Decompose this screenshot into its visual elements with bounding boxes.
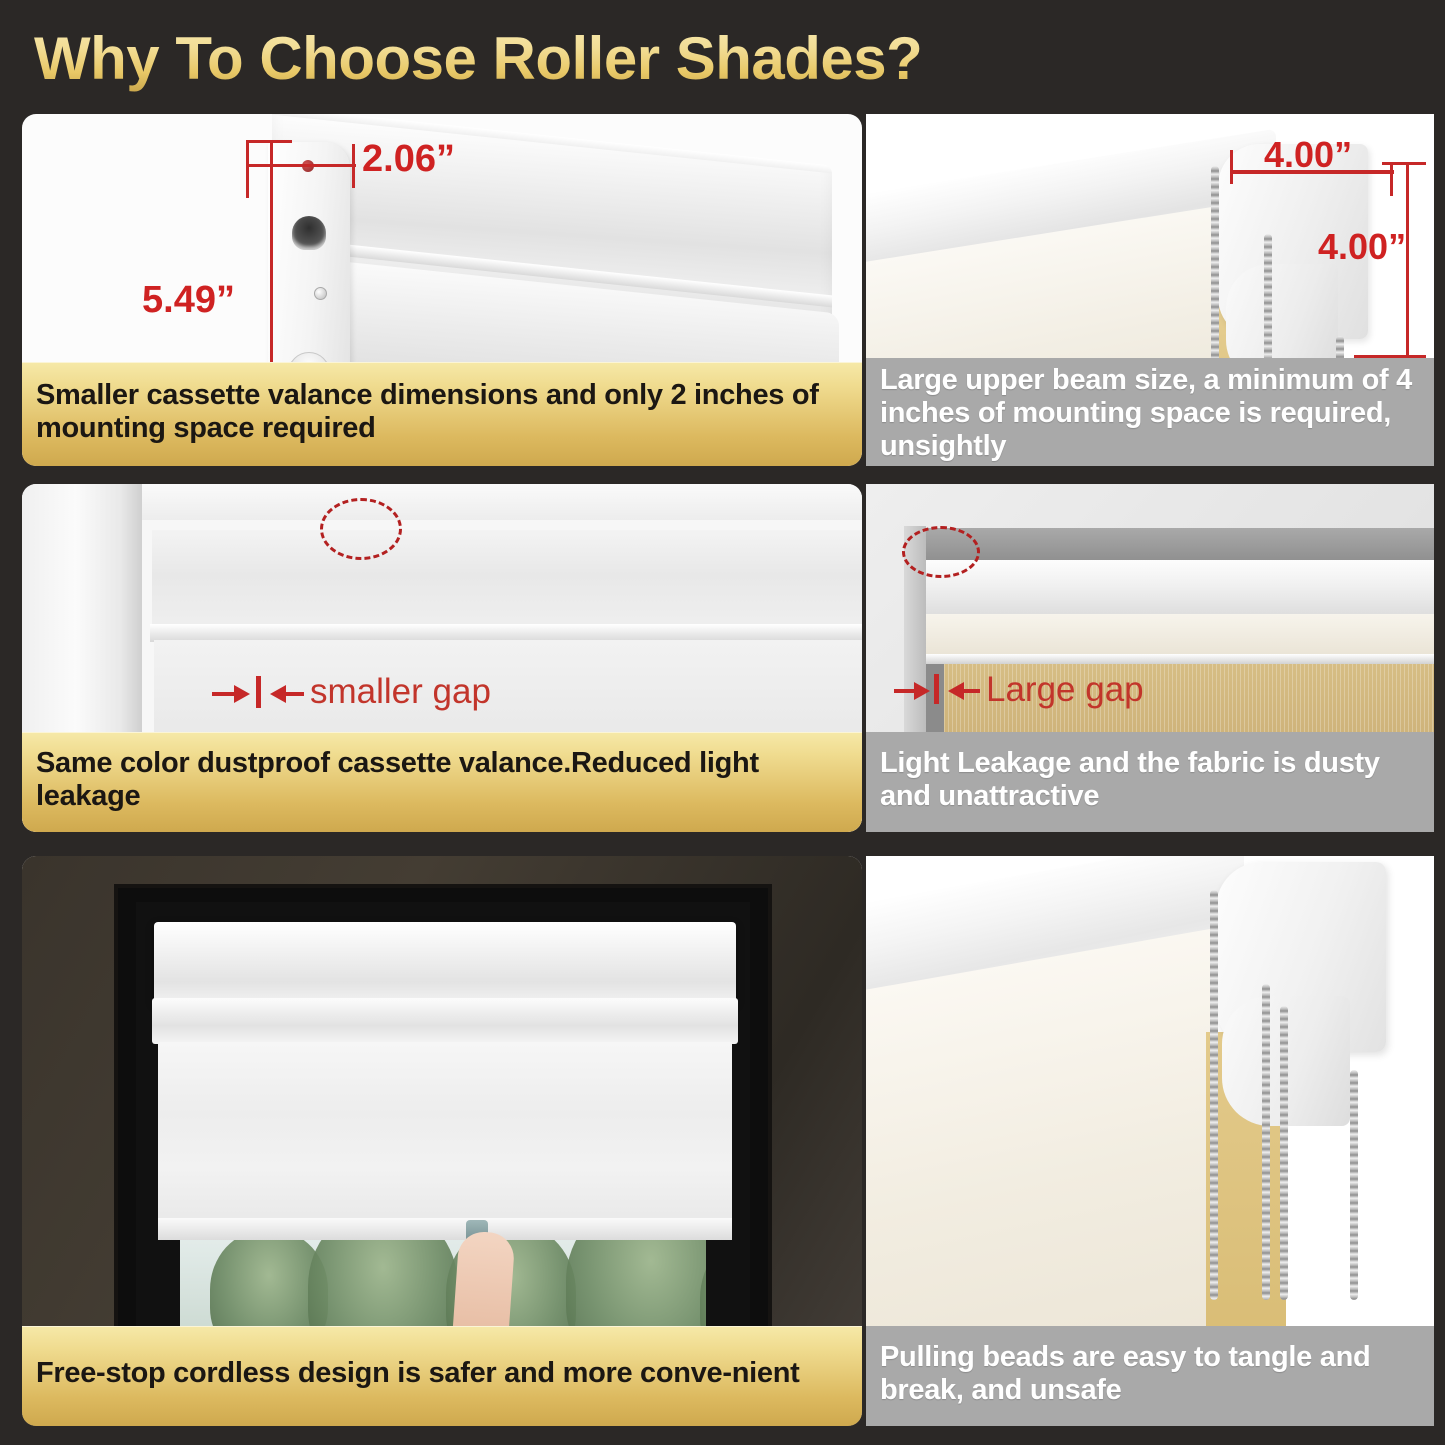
bracket-slot bbox=[292, 216, 326, 250]
gap-marker-bar bbox=[934, 674, 939, 704]
dim-ext-left-206 bbox=[246, 140, 249, 198]
dim-ext-right-400h bbox=[1390, 164, 1393, 196]
panel-bottom-right-caption: Pulling beads are easy to tangle and bre… bbox=[866, 1326, 1434, 1426]
panel-bottom-right: Pulling beads are easy to tangle and bre… bbox=[866, 856, 1434, 1426]
highlight-ellipse-icon bbox=[320, 498, 402, 560]
dimension-label-width-206: 2.06” bbox=[362, 138, 455, 181]
dimension-label-width-400: 4.00” bbox=[1264, 134, 1352, 176]
gap-arrow-stem-left bbox=[894, 689, 916, 693]
gap-arrow-right-icon bbox=[914, 682, 930, 700]
dim-tick-top-549 bbox=[248, 140, 292, 143]
comparison-grid: 2.06” 5.49” Smaller cassette valance dim… bbox=[0, 0, 1445, 1445]
cordless-shade-bottom-rail bbox=[158, 1218, 732, 1240]
pull-bead-chain-3 bbox=[1280, 1006, 1288, 1300]
gap-arrow-stem-left bbox=[212, 692, 236, 696]
panel-bottom-left-caption: Free-stop cordless design is safer and m… bbox=[22, 1326, 862, 1426]
cordless-shade-valance bbox=[154, 922, 736, 1002]
dim-line-400v bbox=[1406, 162, 1409, 358]
gap-arrow-left-icon bbox=[948, 682, 964, 700]
dim-line-206 bbox=[246, 164, 356, 167]
pull-bead-chain-4 bbox=[1350, 1070, 1358, 1300]
window-head-trim bbox=[112, 484, 862, 520]
dim-tick-top-400v bbox=[1382, 162, 1426, 165]
gap-arrow-stem-right bbox=[286, 692, 304, 696]
panel-top-left: 2.06” 5.49” Smaller cassette valance dim… bbox=[22, 114, 862, 466]
dimension-label-height-549: 5.49” bbox=[142, 279, 235, 322]
gap-callout-smaller: smaller gap bbox=[310, 672, 491, 712]
bracket-screw bbox=[314, 287, 327, 300]
dim-ext-left-400h bbox=[1230, 150, 1233, 184]
gap-callout-large: Large gap bbox=[986, 670, 1144, 710]
panel-mid-left: smaller gap Same color dustproof cassett… bbox=[22, 484, 862, 832]
panel-mid-left-caption: Same color dustproof cassette valance.Re… bbox=[22, 732, 862, 832]
dimension-label-height-400: 4.00” bbox=[1318, 226, 1406, 268]
gap-arrow-stem-right bbox=[964, 689, 980, 693]
upper-beam-shadow bbox=[924, 528, 1434, 562]
panel-top-right-caption: Large upper beam size, a minimum of 4 in… bbox=[866, 358, 1434, 466]
gap-arrow-right-icon bbox=[234, 685, 250, 703]
cassette-valance-face bbox=[152, 530, 862, 630]
pull-bead-chain-2 bbox=[1262, 984, 1270, 1300]
panel-top-left-caption: Smaller cassette valance dimensions and … bbox=[22, 362, 862, 466]
panel-top-right: 4.00” 4.00” Large upper beam size, a min… bbox=[866, 114, 1434, 466]
highlight-ellipse-icon bbox=[902, 526, 980, 578]
panel-mid-right-caption: Light Leakage and the fabric is dusty an… bbox=[866, 732, 1434, 832]
upper-beam-lower-face bbox=[924, 614, 1434, 656]
upper-beam-face bbox=[924, 560, 1434, 618]
cordless-shade-upper-rail bbox=[152, 998, 738, 1044]
dim-ext-right-206 bbox=[352, 144, 355, 188]
gap-marker-bar bbox=[256, 676, 261, 708]
pull-bead-chain-1 bbox=[1210, 890, 1218, 1300]
panel-mid-right: Large gap Light Leakage and the fabric i… bbox=[866, 484, 1434, 832]
cordless-shade-fabric bbox=[158, 1042, 732, 1222]
gap-arrow-left-icon bbox=[270, 685, 286, 703]
panel-bottom-left: Free-stop cordless design is safer and m… bbox=[22, 856, 862, 1426]
